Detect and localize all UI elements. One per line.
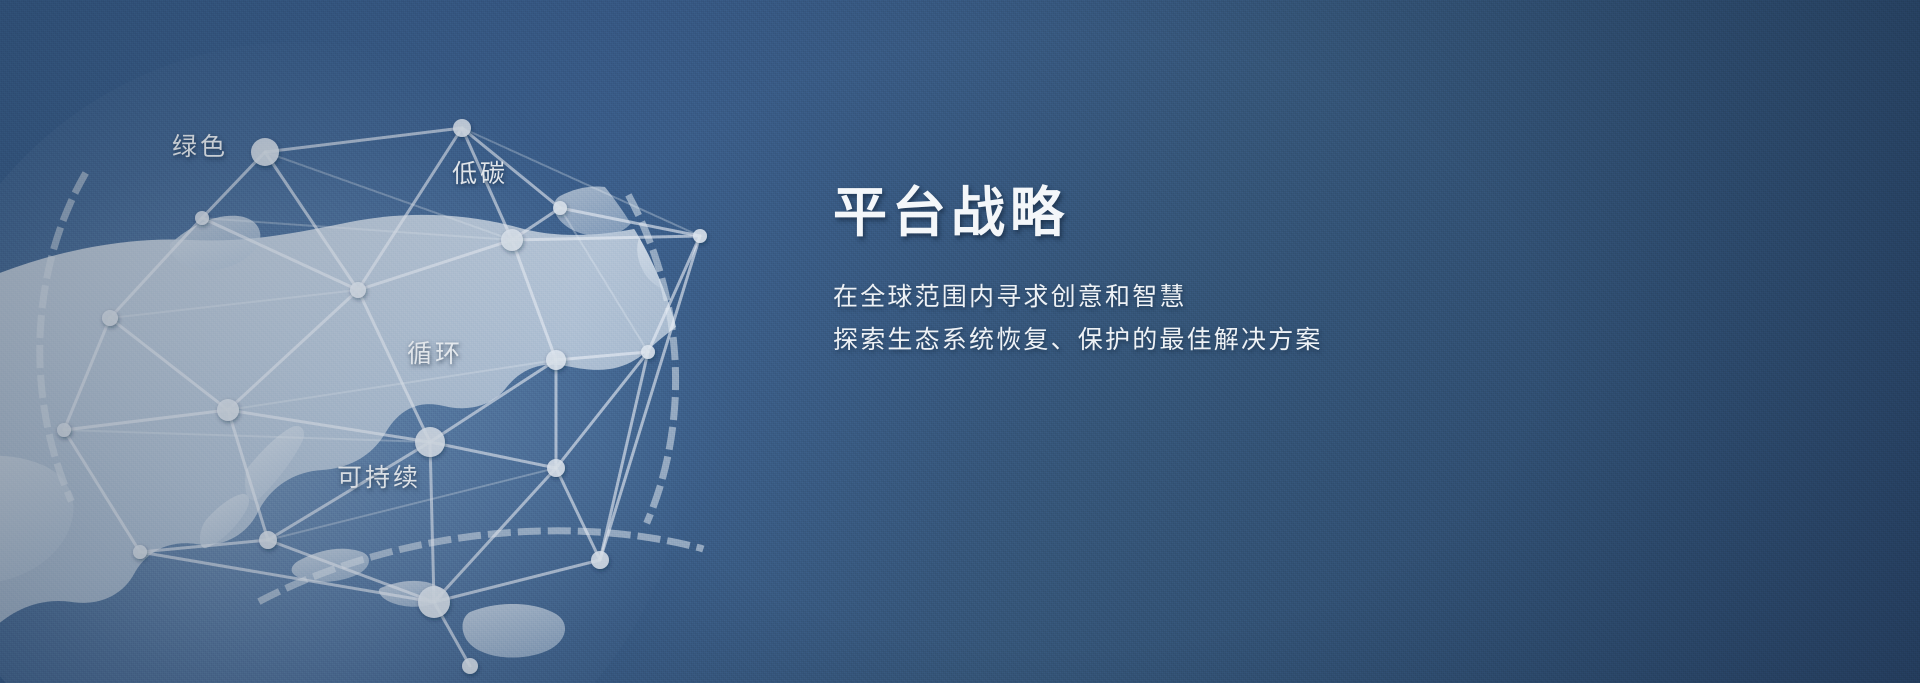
hero-subtitle-line-2: 探索生态系统恢复、保护的最佳解决方案 (833, 319, 1593, 363)
globe-label-sustainable: 可持续 (337, 458, 421, 494)
page-title: 平台战略 (833, 185, 1593, 242)
hero-subtitle-line-1: 在全球范围内寻求创意和智慧 (833, 276, 1593, 320)
hero-text-block: 平台战略 在全球范围内寻求创意和智慧 探索生态系统恢复、保护的最佳解决方案 (833, 185, 1593, 363)
hero-banner: 绿色 低碳 循环 可持续 平台战略 在全球范围内寻求创意和智慧 探索生态系统恢复… (0, 0, 1920, 683)
globe-label-green: 绿色 (172, 127, 228, 163)
globe-label-circular: 循环 (407, 334, 463, 370)
globe-label-low-carbon: 低碳 (452, 154, 508, 190)
